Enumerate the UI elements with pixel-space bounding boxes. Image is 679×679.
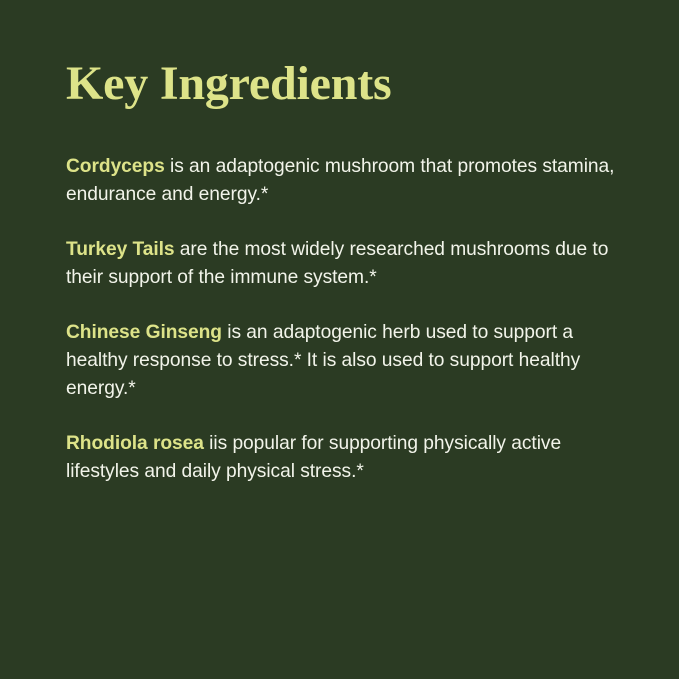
list-item: Rhodiola rosea iis popular for supportin… bbox=[66, 430, 618, 486]
list-item: Cordyceps is an adaptogenic mushroom tha… bbox=[66, 153, 618, 209]
list-item: Chinese Ginseng is an adaptogenic herb u… bbox=[66, 319, 618, 403]
ingredient-name: Rhodiola rosea bbox=[66, 433, 204, 454]
ingredient-name: Chinese Ginseng bbox=[66, 322, 222, 343]
list-item: Turkey Tails are the most widely researc… bbox=[66, 236, 618, 292]
ingredient-name: Cordyceps bbox=[66, 156, 165, 177]
ingredient-name: Turkey Tails bbox=[66, 239, 175, 260]
page-title: Key Ingredients bbox=[66, 60, 391, 108]
key-ingredients-card: Key Ingredients Cordyceps is an adaptoge… bbox=[0, 0, 679, 679]
ingredients-list: Cordyceps is an adaptogenic mushroom tha… bbox=[66, 153, 618, 486]
